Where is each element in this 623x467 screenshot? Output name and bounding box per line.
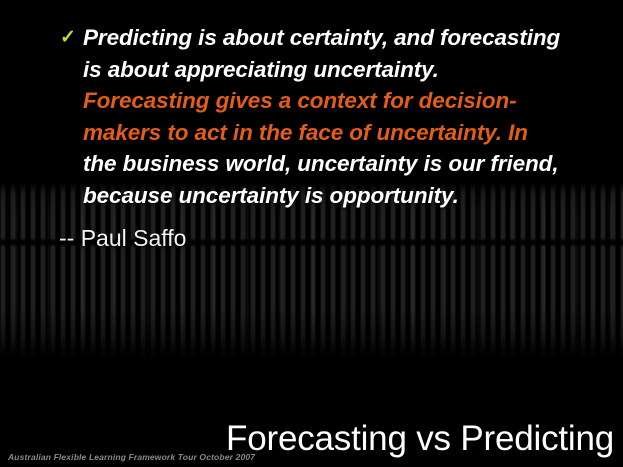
quote-line-6: because uncertainty is opportunity. bbox=[59, 180, 604, 212]
quote-line-5: the business world, uncertainty is our f… bbox=[59, 148, 604, 180]
presentation-slide: ✓ Predicting is about certainty, and for… bbox=[0, 0, 623, 467]
quote-line-3: Forecasting gives a context for decision… bbox=[59, 85, 604, 117]
quote-line-6-text: because uncertainty is opportunity. bbox=[83, 183, 459, 208]
quote-line-2: is about appreciating uncertainty. bbox=[59, 54, 604, 86]
quote-line-4: makers to act in the face of uncertainty… bbox=[59, 117, 604, 149]
slide-title: Forecasting vs Predicting bbox=[226, 419, 614, 459]
quote-line-1: ✓ Predicting is about certainty, and for… bbox=[59, 22, 604, 54]
check-icon: ✓ bbox=[60, 22, 80, 54]
quote-line-4-text: makers to act in the face of uncertainty… bbox=[83, 120, 528, 145]
slide-footer: Australian Flexible Learning Framework T… bbox=[8, 452, 255, 462]
quote-line-1-text: Predicting is about certainty, and forec… bbox=[83, 25, 560, 50]
quote-attribution: -- Paul Saffo bbox=[59, 223, 186, 253]
quote-line-2-text: is about appreciating uncertainty. bbox=[83, 57, 439, 82]
quote-block: ✓ Predicting is about certainty, and for… bbox=[59, 22, 604, 211]
quote-line-3-text: Forecasting gives a context for decision… bbox=[83, 88, 517, 113]
quote-line-5-text: the business world, uncertainty is our f… bbox=[83, 151, 558, 176]
